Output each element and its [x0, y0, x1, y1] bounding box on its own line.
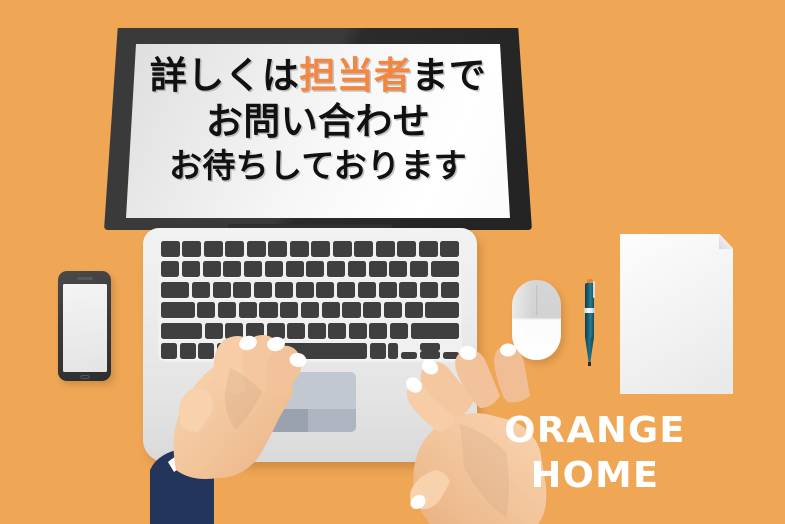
- computer-mouse[interactable]: [512, 280, 561, 360]
- key[interactable]: [369, 323, 387, 339]
- key[interactable]: [354, 241, 373, 257]
- key[interactable]: [358, 282, 376, 298]
- key-shift-left[interactable]: [161, 323, 202, 339]
- screen-text-highlight: 担当者: [299, 55, 411, 96]
- key[interactable]: [246, 323, 264, 339]
- pen-clip: [593, 281, 595, 298]
- key[interactable]: [337, 282, 355, 298]
- right-thumb: [410, 470, 450, 509]
- key[interactable]: [223, 261, 241, 277]
- brand-line-orange: ORANGE: [488, 412, 702, 451]
- key[interactable]: [192, 282, 210, 298]
- key[interactable]: [218, 302, 236, 318]
- key-fn[interactable]: [161, 343, 177, 359]
- key[interactable]: [280, 302, 298, 318]
- key-arrow-updown[interactable]: [420, 343, 441, 359]
- key-ctrl[interactable]: [180, 343, 196, 359]
- key-alt[interactable]: [198, 343, 214, 359]
- pen-tip: [585, 337, 594, 363]
- pen-nib: [588, 362, 590, 366]
- key-arrow-left[interactable]: [401, 352, 417, 359]
- key-arrow-down[interactable]: [420, 351, 441, 359]
- key[interactable]: [441, 282, 459, 298]
- key[interactable]: [342, 302, 360, 318]
- key[interactable]: [233, 282, 251, 298]
- screen-text-line-2: お問い合わせ: [206, 102, 430, 142]
- right-nail-thumb: [408, 492, 429, 512]
- keyboard-row-modifier[interactable]: [161, 343, 459, 359]
- pen-band: [584, 308, 594, 313]
- mouse-highlight: [512, 280, 533, 360]
- ballpoint-pen[interactable]: [582, 278, 597, 366]
- key[interactable]: [213, 282, 231, 298]
- key[interactable]: [369, 261, 387, 277]
- key-cmd-right[interactable]: [370, 343, 386, 359]
- key[interactable]: [327, 261, 345, 277]
- key[interactable]: [296, 282, 314, 298]
- screen-text-line-1-post: まで: [411, 55, 486, 96]
- keyboard-row-bottom[interactable]: [161, 323, 459, 339]
- key-backspace[interactable]: [431, 261, 459, 277]
- keyboard-row-home[interactable]: [161, 302, 459, 318]
- key-tab[interactable]: [161, 282, 189, 298]
- key[interactable]: [204, 241, 223, 257]
- laptop-keyboard[interactable]: [161, 241, 459, 359]
- key[interactable]: [286, 261, 304, 277]
- key[interactable]: [328, 323, 346, 339]
- key[interactable]: [254, 282, 272, 298]
- key[interactable]: [290, 241, 309, 257]
- laptop-screen: 詳しくは担当者まで お問い合わせ お待ちしております: [126, 44, 510, 218]
- key[interactable]: [397, 241, 416, 257]
- key[interactable]: [399, 282, 417, 298]
- key[interactable]: [225, 241, 244, 257]
- key[interactable]: [239, 302, 257, 318]
- key[interactable]: [205, 323, 223, 339]
- key[interactable]: [316, 282, 334, 298]
- key[interactable]: [311, 241, 330, 257]
- key[interactable]: [384, 302, 402, 318]
- phone-home-button[interactable]: [80, 375, 89, 379]
- key-arrow-up[interactable]: [420, 343, 441, 351]
- mouse-button-divider: [536, 285, 538, 315]
- phone-screen[interactable]: [63, 284, 107, 372]
- brand-wordmark: ORANGE HOME: [490, 412, 700, 496]
- key-spacebar[interactable]: [236, 343, 368, 359]
- screen-text-line-3: お待ちしております: [169, 148, 467, 184]
- keyboard-row-number[interactable]: [161, 261, 459, 277]
- key-alt-right[interactable]: [388, 343, 398, 359]
- key[interactable]: [390, 323, 408, 339]
- key[interactable]: [259, 302, 277, 318]
- key[interactable]: [389, 261, 407, 277]
- screen-text-line-1-pre: 詳しくは: [150, 55, 299, 96]
- key[interactable]: [420, 282, 438, 298]
- key-enter[interactable]: [425, 302, 459, 318]
- key[interactable]: [306, 261, 324, 277]
- key[interactable]: [161, 241, 180, 257]
- key[interactable]: [379, 282, 397, 298]
- key[interactable]: [287, 323, 305, 339]
- key[interactable]: [348, 261, 366, 277]
- key[interactable]: [182, 261, 200, 277]
- smartphone[interactable]: [58, 271, 111, 381]
- key[interactable]: [247, 241, 266, 257]
- key[interactable]: [440, 241, 459, 257]
- key[interactable]: [363, 302, 381, 318]
- key[interactable]: [410, 261, 428, 277]
- phone-speaker-icon: [77, 277, 93, 280]
- banner-canvas: 詳しくは担当者まで お問い合わせ お待ちしております: [0, 0, 785, 524]
- key[interactable]: [322, 302, 340, 318]
- keyboard-row-top[interactable]: [161, 282, 459, 298]
- key[interactable]: [244, 261, 262, 277]
- screen-text-line-1: 詳しくは担当者まで: [150, 56, 486, 96]
- key[interactable]: [349, 323, 367, 339]
- paper-sheet[interactable]: [620, 234, 733, 394]
- key[interactable]: [376, 241, 395, 257]
- key[interactable]: [182, 241, 201, 257]
- key[interactable]: [268, 241, 287, 257]
- key[interactable]: [197, 302, 215, 318]
- key[interactable]: [265, 261, 283, 277]
- key-arrow-right[interactable]: [443, 352, 459, 359]
- brand-line-home: HOME: [488, 457, 702, 496]
- key[interactable]: [301, 302, 319, 318]
- key[interactable]: [308, 323, 326, 339]
- trackpad-left-button[interactable]: [268, 409, 308, 432]
- key-capslock[interactable]: [161, 302, 195, 318]
- key-shift-right[interactable]: [411, 323, 460, 339]
- key[interactable]: [419, 241, 438, 257]
- key[interactable]: [405, 302, 423, 318]
- key-cmd-left[interactable]: [217, 343, 233, 359]
- key[interactable]: [161, 261, 179, 277]
- key[interactable]: [267, 323, 285, 339]
- key[interactable]: [225, 323, 243, 339]
- key[interactable]: [203, 261, 221, 277]
- keyboard-row-function[interactable]: [161, 241, 459, 257]
- key[interactable]: [275, 282, 293, 298]
- key[interactable]: [333, 241, 352, 257]
